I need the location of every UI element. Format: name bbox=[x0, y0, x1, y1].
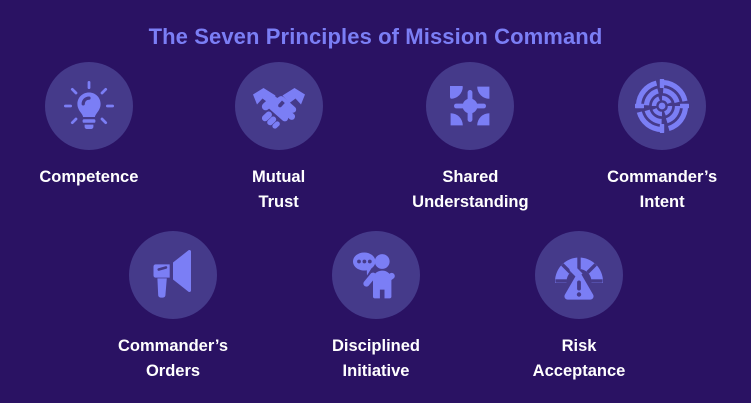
gauge-warning-icon bbox=[550, 246, 608, 304]
principle-label: Competence bbox=[39, 165, 138, 190]
person-raising-hand-icon-circle bbox=[332, 231, 420, 319]
principles-row-bottom: Commander’s Orders D bbox=[0, 231, 751, 384]
person-raising-hand-icon bbox=[348, 247, 404, 303]
network-hub-icon bbox=[442, 78, 498, 134]
gauge-warning-icon-circle bbox=[535, 231, 623, 319]
principle-disciplined-initiative[interactable]: Disciplined Initiative bbox=[281, 231, 471, 384]
principle-shared-understanding[interactable]: Shared Understanding bbox=[382, 62, 560, 215]
principle-label: Commander’s Intent bbox=[607, 165, 717, 215]
page-title: The Seven Principles of Mission Command bbox=[0, 24, 751, 50]
network-hub-icon-circle bbox=[426, 62, 514, 150]
megaphone-icon bbox=[145, 247, 201, 303]
handshake-icon bbox=[250, 77, 308, 135]
megaphone-icon-circle bbox=[129, 231, 217, 319]
principles-row-top: Competence Mutual Trust bbox=[0, 62, 751, 215]
principle-competence[interactable]: Competence bbox=[0, 62, 178, 215]
principle-commanders-intent[interactable]: Commander’s Intent bbox=[573, 62, 751, 215]
principle-label: Disciplined Initiative bbox=[332, 334, 420, 384]
principle-label: Risk Acceptance bbox=[533, 334, 626, 384]
lightbulb-icon bbox=[61, 78, 117, 134]
target-icon bbox=[633, 77, 691, 135]
principle-label: Commander’s Orders bbox=[118, 334, 228, 384]
principle-label: Mutual Trust bbox=[252, 165, 305, 215]
lightbulb-icon-circle bbox=[45, 62, 133, 150]
principle-label: Shared Understanding bbox=[412, 165, 528, 215]
principle-mutual-trust[interactable]: Mutual Trust bbox=[190, 62, 368, 215]
target-icon-circle bbox=[618, 62, 706, 150]
principle-commanders-orders[interactable]: Commander’s Orders bbox=[78, 231, 268, 384]
handshake-icon-circle bbox=[235, 62, 323, 150]
mission-command-infographic: The Seven Principles of Mission Command bbox=[0, 0, 751, 403]
principle-risk-acceptance[interactable]: Risk Acceptance bbox=[484, 231, 674, 384]
